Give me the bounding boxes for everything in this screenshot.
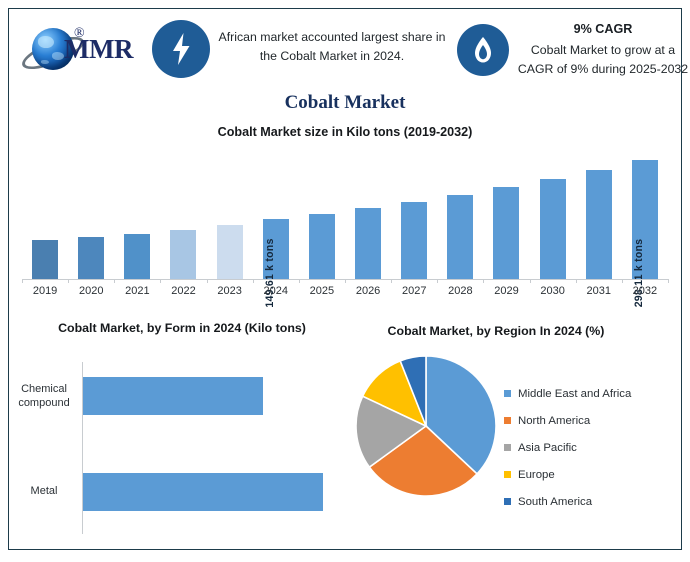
bar-2024: 149.61 k tons	[263, 219, 289, 279]
bar-2031	[586, 170, 612, 279]
x-axis-label-2031: 2031	[576, 285, 622, 297]
legend-label: Europe	[518, 469, 555, 481]
x-axis-label-2028: 2028	[437, 285, 483, 297]
x-axis-label-2027: 2027	[391, 285, 437, 297]
cagr-message: Cobalt Market to grow at a CAGR of 9% du…	[518, 43, 688, 76]
axis-tick	[160, 279, 161, 283]
form-category-label-chemical-compound: Chemical compound	[8, 383, 80, 411]
axis-tick	[253, 279, 254, 283]
axis-tick	[114, 279, 115, 283]
axis-tick	[576, 279, 577, 283]
legend-label: North America	[518, 415, 590, 427]
bar-column	[68, 147, 114, 279]
legend-label: South America	[518, 496, 592, 508]
bar-value-label-2024: 149.61 k tons	[264, 238, 276, 307]
legend-swatch-icon	[504, 417, 511, 424]
legend-swatch-icon	[504, 471, 511, 478]
bar-2020	[78, 237, 104, 279]
lightning-bolt-icon	[152, 20, 210, 78]
axis-tick	[668, 279, 669, 283]
pie-graphic	[354, 350, 504, 502]
bar-column	[530, 147, 576, 279]
axis-tick	[391, 279, 392, 283]
flame-icon	[457, 24, 509, 76]
by-form-bar-chart: Cobalt Market, by Form in 2024 (Kilo ton…	[14, 320, 344, 548]
legend-item-south-america: South America	[504, 488, 631, 515]
x-axis-label-2019: 2019	[22, 285, 68, 297]
x-axis-label-2029: 2029	[483, 285, 529, 297]
legend-swatch-icon	[504, 498, 511, 505]
bar-chart-plot-area: 149.61 k tons298.11 k tons	[22, 147, 668, 279]
form-bar-chemical-compound	[83, 377, 263, 415]
bar-column: 149.61 k tons	[253, 147, 299, 279]
header-left-message: African market accounted largest share i…	[219, 30, 446, 63]
axis-tick	[530, 279, 531, 283]
legend-item-middle-east-and-africa: Middle East and Africa	[504, 380, 631, 407]
legend-item-europe: Europe	[504, 461, 631, 488]
header-right-text: 9% CAGR Cobalt Market to grow at a CAGR …	[513, 20, 690, 79]
bar-column	[345, 147, 391, 279]
bar-2029	[493, 187, 519, 279]
x-axis-label-2025: 2025	[299, 285, 345, 297]
axis-tick	[299, 279, 300, 283]
axis-tick	[483, 279, 484, 283]
bar-column	[483, 147, 529, 279]
bar-2019	[32, 240, 58, 279]
bar-chart-title: Cobalt Market size in Kilo tons (2019-20…	[14, 125, 676, 139]
pie-chart-title: Cobalt Market, by Region In 2024 (%)	[346, 324, 646, 338]
logo-text: MMR	[64, 34, 133, 65]
bar-2027	[401, 202, 427, 279]
infographic-root: ® MMR African market accounted largest s…	[0, 0, 690, 562]
bar-2021	[124, 234, 150, 279]
bar-column	[299, 147, 345, 279]
bar-2030	[540, 179, 566, 279]
legend-label: Middle East and Africa	[518, 388, 631, 400]
axis-tick	[207, 279, 208, 283]
x-axis-label-2030: 2030	[530, 285, 576, 297]
form-bar-metal	[83, 473, 323, 511]
bar-2032: 298.11 k tons	[632, 160, 658, 279]
bar-column	[160, 147, 206, 279]
legend-item-north-america: North America	[504, 407, 631, 434]
legend-swatch-icon	[504, 444, 511, 451]
bar-column	[576, 147, 622, 279]
header-left-text: African market accounted largest share i…	[216, 28, 448, 65]
bar-column	[437, 147, 483, 279]
axis-tick	[622, 279, 623, 283]
legend-label: Asia Pacific	[518, 442, 577, 454]
x-axis-label-2024: 2024	[253, 285, 299, 297]
legend-item-asia-pacific: Asia Pacific	[504, 434, 631, 461]
bar-2028	[447, 195, 473, 279]
x-axis-label-2022: 2022	[160, 285, 206, 297]
x-axis-label-2020: 2020	[68, 285, 114, 297]
form-category-label-metal: Metal	[8, 485, 80, 499]
bar-column	[22, 147, 68, 279]
cagr-title: 9% CAGR	[513, 20, 690, 39]
bar-column	[391, 147, 437, 279]
mmr-logo: ® MMR	[18, 18, 148, 80]
header: ® MMR African market accounted largest s…	[10, 10, 680, 90]
bar-2022	[170, 230, 196, 279]
bar-column	[114, 147, 160, 279]
axis-tick	[345, 279, 346, 283]
x-axis-label-2032: 2032	[622, 285, 668, 297]
bar-2026	[355, 208, 381, 279]
form-chart-title: Cobalt Market, by Form in 2024 (Kilo ton…	[32, 320, 332, 337]
x-axis-label-2023: 2023	[207, 285, 253, 297]
bar-2023	[217, 225, 243, 279]
axis-tick	[437, 279, 438, 283]
page-title: Cobalt Market	[0, 92, 690, 114]
bar-2025	[309, 214, 335, 279]
pie-legend: Middle East and AfricaNorth AmericaAsia …	[504, 380, 631, 515]
x-axis-label-2021: 2021	[114, 285, 160, 297]
x-axis-label-2026: 2026	[345, 285, 391, 297]
axis-tick	[22, 279, 23, 283]
bar-column: 298.11 k tons	[622, 147, 668, 279]
bar-column	[207, 147, 253, 279]
axis-tick	[68, 279, 69, 283]
market-size-bar-chart: Cobalt Market size in Kilo tons (2019-20…	[14, 125, 676, 310]
by-region-pie-chart: Cobalt Market, by Region In 2024 (%) Mid…	[346, 320, 680, 548]
legend-swatch-icon	[504, 390, 511, 397]
